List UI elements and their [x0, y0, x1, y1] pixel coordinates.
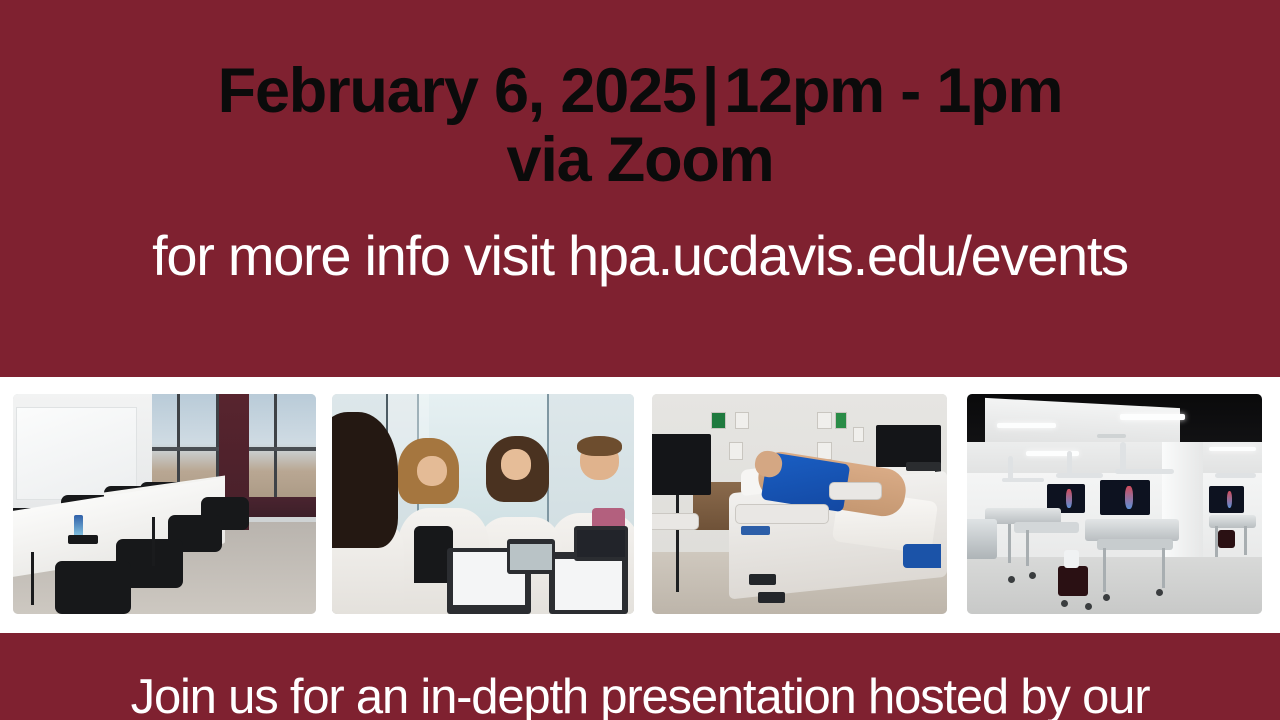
top-maroon-band: February 6, 2025|12pm - 1pm via Zoom for… — [0, 0, 1280, 377]
headline-separator: | — [696, 56, 724, 126]
headline-line-2: via Zoom — [507, 126, 774, 194]
bottom-text: Join us for an in-depth presentation hos… — [131, 671, 1150, 720]
event-flyer: February 6, 2025|12pm - 1pm via Zoom for… — [0, 0, 1280, 720]
photo-conference-room — [13, 394, 316, 614]
bottom-maroon-band: Join us for an in-depth presentation hos… — [0, 633, 1280, 720]
headline-line-1: February 6, 2025|12pm - 1pm — [218, 56, 1063, 126]
headline-date: February 6, 2025 — [218, 56, 696, 126]
photo-strip — [0, 394, 1280, 614]
photo-simulation-lab — [652, 394, 947, 614]
photo-anatomy-lab — [967, 394, 1262, 614]
headline-time: 12pm - 1pm — [724, 56, 1062, 126]
photo-students-white-coats — [332, 394, 634, 614]
info-line: for more info visit hpa.ucdavis.edu/even… — [152, 226, 1128, 286]
